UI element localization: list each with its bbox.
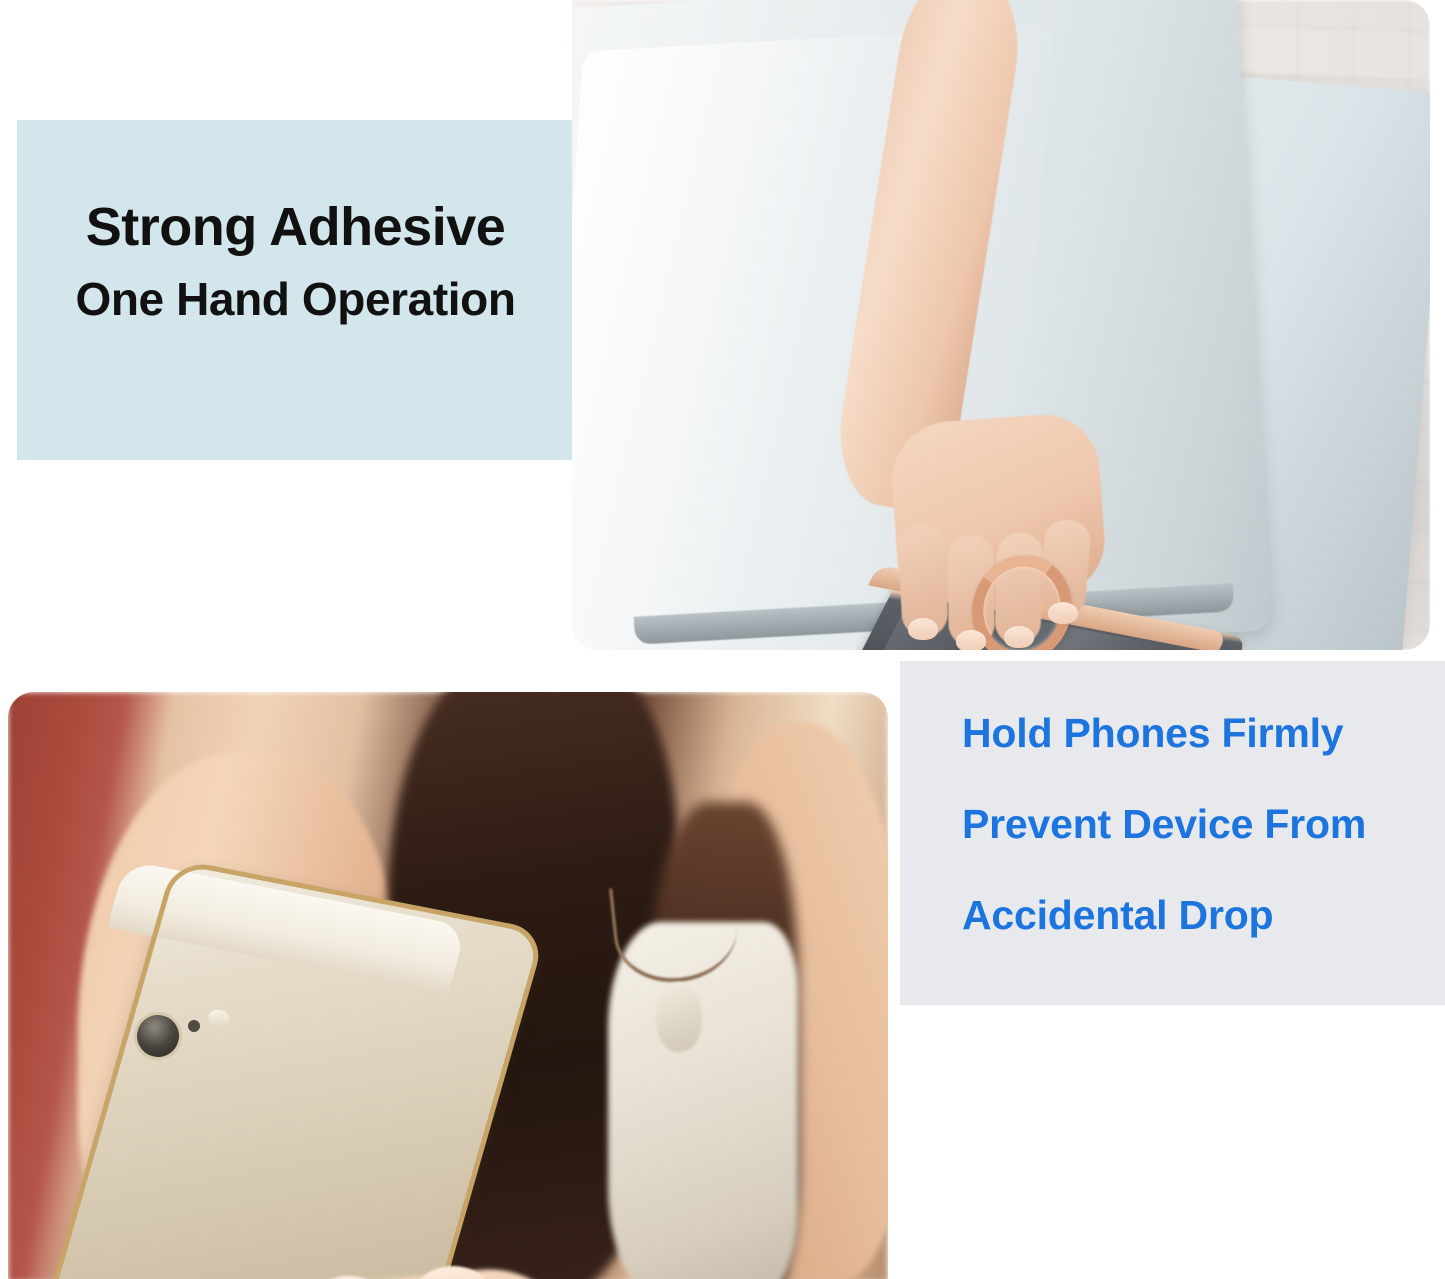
benefit-line-2: Prevent Device From (962, 804, 1421, 845)
fingernail (956, 630, 986, 650)
microphone-dot-icon (188, 1020, 200, 1032)
page-title: Strong Adhesive (37, 200, 554, 254)
page-subtitle: One Hand Operation (37, 276, 554, 322)
pendant (656, 982, 702, 1052)
headline-panel-adhesive: Strong Adhesive One Hand Operation (17, 120, 572, 460)
benefit-line-3: Accidental Drop (962, 895, 1421, 936)
fingernail (1004, 626, 1034, 648)
fingernail (908, 618, 938, 640)
photo-laptop-with-ring-holder (572, 0, 1430, 650)
photo-woman-holding-gold-phone (8, 692, 888, 1279)
fingernail (1048, 602, 1078, 624)
benefits-list: Hold Phones Firmly Prevent Device From A… (962, 713, 1421, 936)
benefit-line-1: Hold Phones Firmly (962, 713, 1421, 754)
infographic-canvas: Strong Adhesive One Hand Operation Hold … (0, 0, 1445, 1279)
benefits-panel: Hold Phones Firmly Prevent Device From A… (900, 661, 1445, 1005)
